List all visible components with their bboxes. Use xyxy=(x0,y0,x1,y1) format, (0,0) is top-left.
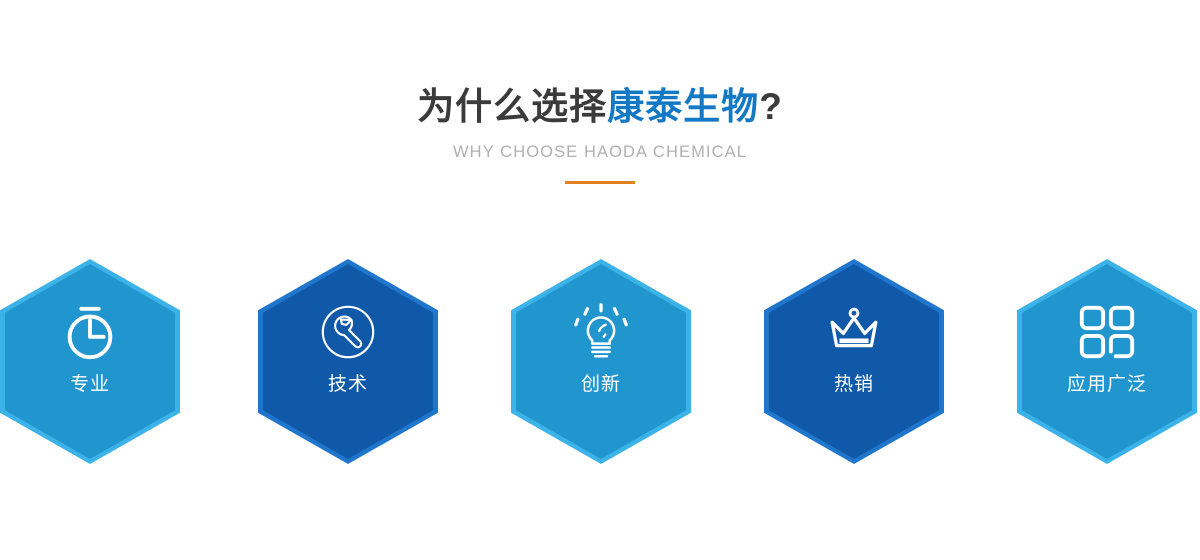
divider-wrap xyxy=(0,181,1200,184)
lightbulb-icon xyxy=(570,301,632,363)
page-title-highlight: 康泰生物 xyxy=(607,86,759,127)
feature-label: 应用广泛 xyxy=(1067,375,1147,394)
stopwatch-icon xyxy=(59,301,121,363)
feature-hexagon[interactable]: 技术 xyxy=(258,259,438,464)
grid-icon xyxy=(1076,301,1138,363)
feature-label: 创新 xyxy=(581,375,621,394)
title-divider xyxy=(565,181,635,184)
hexagon-content: 创新 xyxy=(511,259,691,464)
page-title: 为什么选择康泰生物? xyxy=(0,86,1200,129)
wrench-circle-icon xyxy=(317,301,379,363)
page-subtitle: WHY CHOOSE HAODA CHEMICAL xyxy=(0,143,1200,162)
feature-hexagon[interactable]: 创新 xyxy=(511,259,691,464)
feature-hexagon[interactable]: 专业 xyxy=(0,259,180,464)
feature-hexagon[interactable]: 热销 xyxy=(764,259,944,464)
feature-label: 技术 xyxy=(328,375,368,394)
hexagon-content: 专业 xyxy=(0,259,180,464)
feature-hexagon[interactable]: 应用广泛 xyxy=(1017,259,1197,464)
feature-hexagon-row: 专业技术创新热销应用广泛 xyxy=(0,259,1200,467)
page-title-suffix: ? xyxy=(759,86,783,127)
feature-label: 专业 xyxy=(70,375,110,394)
feature-label: 热销 xyxy=(834,375,874,394)
hexagon-content: 技术 xyxy=(258,259,438,464)
hexagon-content: 热销 xyxy=(764,259,944,464)
hexagon-content: 应用广泛 xyxy=(1017,259,1197,464)
section-header: 为什么选择康泰生物? WHY CHOOSE HAODA CHEMICAL xyxy=(0,0,1200,184)
crown-icon xyxy=(823,301,885,363)
page-title-prefix: 为什么选择 xyxy=(417,86,607,127)
